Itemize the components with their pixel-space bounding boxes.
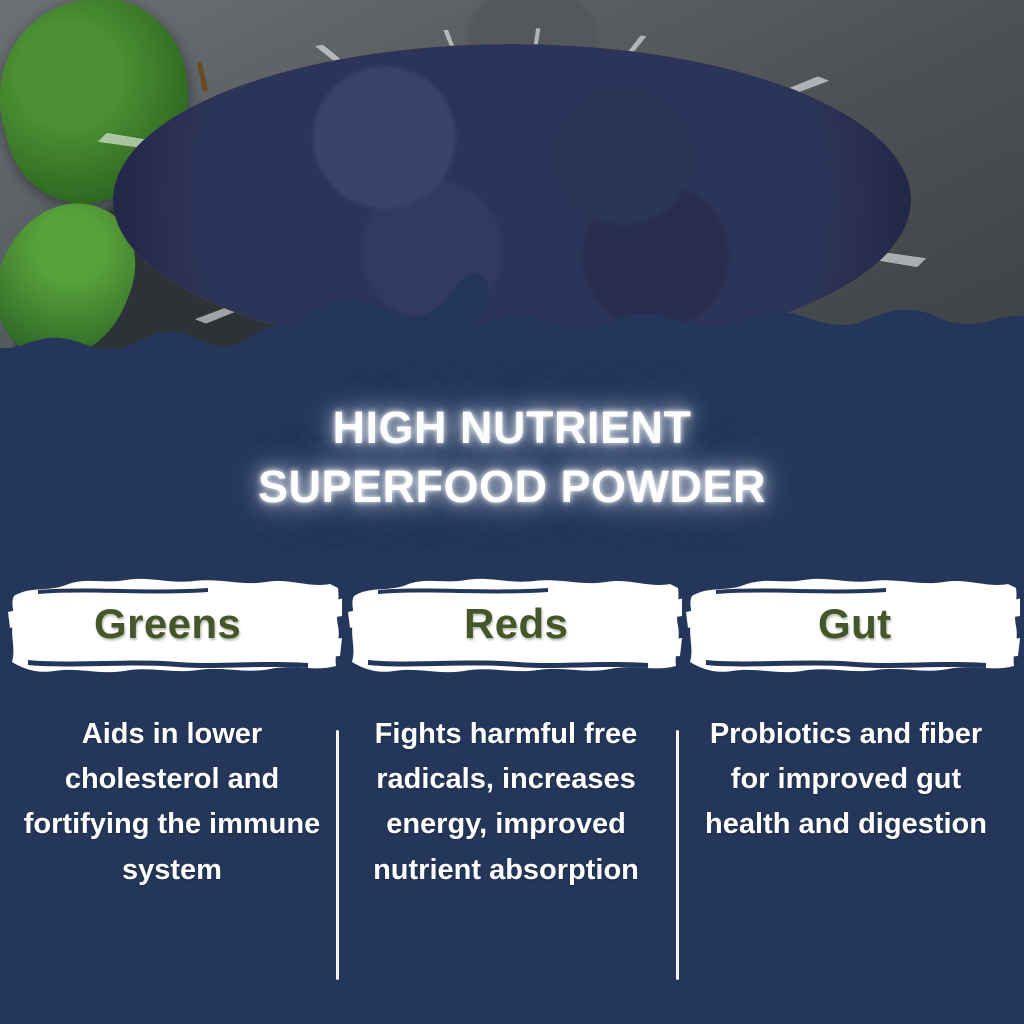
benefit-description-greens: Aids in lower cholesterol and fortifying… [16,712,328,893]
benefit-badge-greens: Greens [8,572,342,676]
food-flatlay-image [0,0,1024,400]
superfood-powder-poster: HIGH NUTRIENT SUPERFOOD POWDER Greens [0,0,1024,1024]
benefit-description-row: Aids in lower cholesterol and fortifying… [0,712,1024,1012]
hero-food-photo [0,0,1024,400]
benefit-description-gut: Probiotics and fiber for improved gut he… [690,712,1002,848]
title-line-1: HIGH NUTRIENT [333,402,692,453]
benefit-badge-row: Greens Reds [0,572,1024,676]
title-line-2: SUPERFOOD POWDER [0,457,1024,516]
badge-label: Greens [8,572,342,676]
benefit-badge-reds: Reds [348,572,682,676]
benefit-description-reds: Fights harmful free radicals, increases … [350,712,662,893]
column-divider-1 [336,730,339,980]
benefit-badge-gut: Gut [686,572,1020,676]
badge-label: Gut [686,572,1020,676]
badge-label: Reds [348,572,682,676]
page-title: HIGH NUTRIENT SUPERFOOD POWDER [0,398,1024,517]
column-divider-2 [676,730,679,980]
